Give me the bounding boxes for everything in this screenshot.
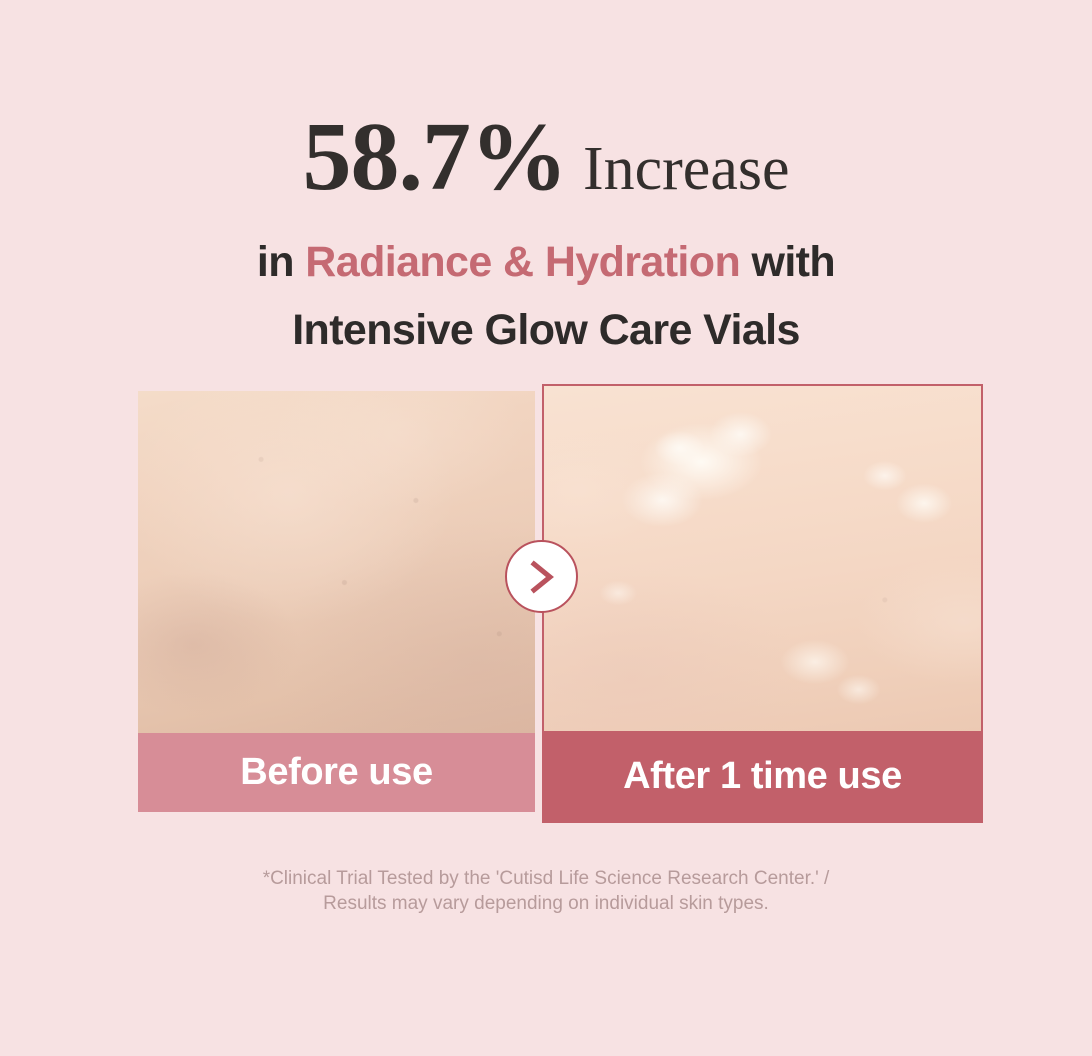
comparison-next-button[interactable] (505, 540, 578, 613)
promo-banner: 58.7%Increase in Radiance & Hydration wi… (0, 0, 1092, 1056)
subheadline-accent-benefit: Radiance & Hydration (305, 238, 740, 286)
after-skin-photo (544, 386, 981, 731)
after-panel[interactable]: After 1 time use (542, 384, 983, 823)
before-skin-photo (138, 391, 535, 733)
before-label-bar: Before use (138, 733, 535, 812)
disclaimer: *Clinical Trial Tested by the 'Cutisd Li… (0, 866, 1092, 916)
subheadline-prefix: in (257, 238, 305, 286)
subheadline-line-2-product-name: Intensive Glow Care Vials (0, 306, 1092, 355)
stat-keyword: Increase (583, 135, 790, 203)
before-label-text: Before use (240, 751, 432, 794)
before-panel[interactable]: Before use (138, 391, 535, 812)
disclaimer-line-2: Results may vary depending on individual… (0, 891, 1092, 916)
headline-block: 58.7%Increase in Radiance & Hydration wi… (0, 0, 1092, 355)
stat-percentage: 58.7% (303, 103, 568, 211)
disclaimer-line-1: *Clinical Trial Tested by the 'Cutisd Li… (0, 866, 1092, 891)
after-label-text: After 1 time use (623, 755, 902, 798)
subheadline-suffix: with (740, 238, 835, 286)
stat-headline: 58.7%Increase (0, 0, 1092, 206)
after-label-bar: After 1 time use (544, 731, 981, 821)
chevron-right-icon (527, 560, 557, 594)
subheadline-line-1: in Radiance & Hydration with (0, 238, 1092, 287)
